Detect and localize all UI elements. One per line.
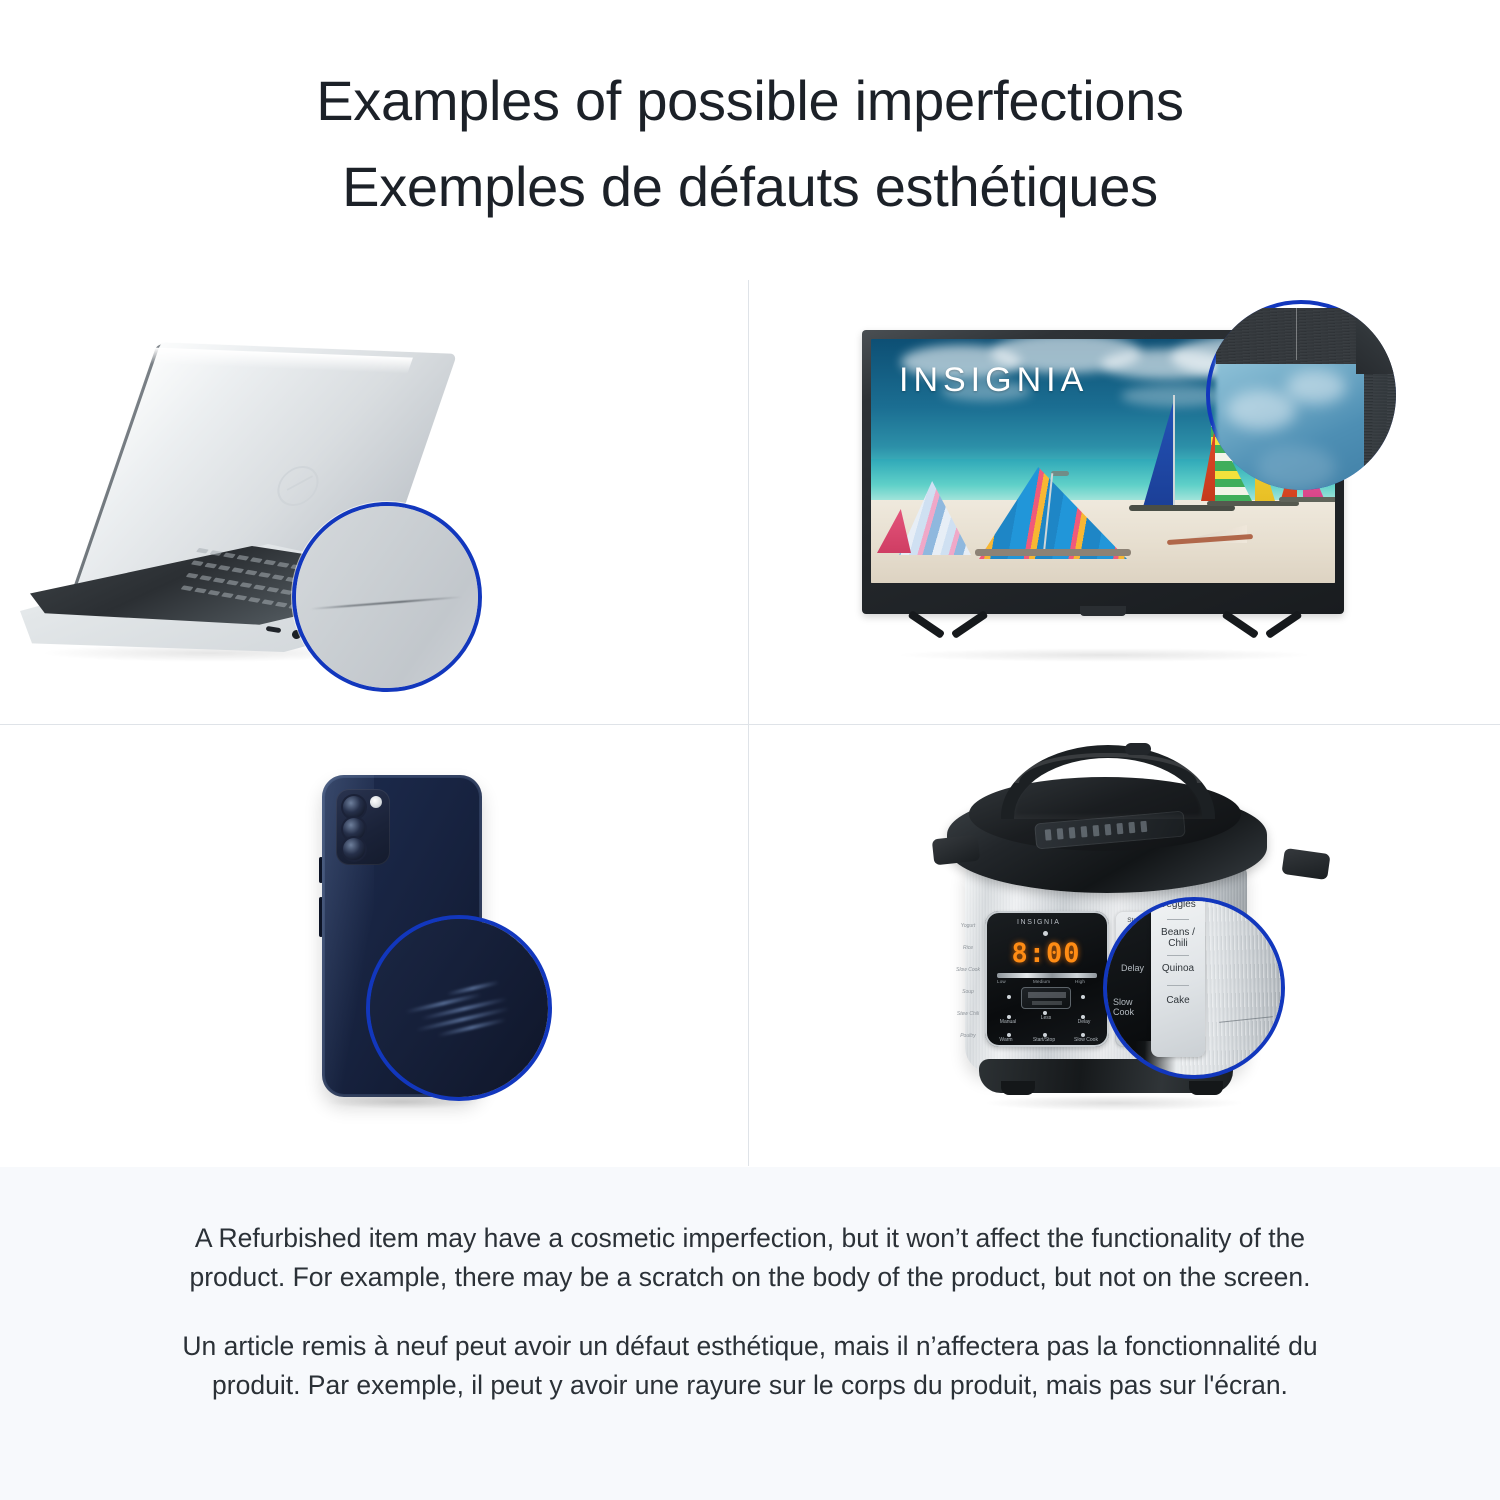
footer-paragraph-english: A Refurbished item may have a cosmetic i… xyxy=(170,1219,1330,1297)
label-less: Less xyxy=(1033,1015,1059,1021)
television-logo-nub xyxy=(1080,606,1126,616)
magnified-label-delay: Delay xyxy=(1121,963,1144,973)
pressure-cook-button[interactable] xyxy=(1021,987,1071,1009)
television-stand-left xyxy=(912,610,984,650)
page-header: Examples of possible imperfections Exemp… xyxy=(0,0,1500,262)
footer-paragraph-french: Un article remis à neuf peut avoir un dé… xyxy=(170,1327,1330,1405)
magnified-button-veggies: Veggies xyxy=(1153,899,1203,910)
bar-label-low: Low xyxy=(997,979,1006,984)
television-stand-right xyxy=(1226,610,1298,650)
base-foot xyxy=(1189,1081,1223,1095)
imperfections-infographic: Examples of possible imperfections Exemp… xyxy=(0,0,1500,1500)
magnified-panel-black: Delay Slow Cook xyxy=(1107,897,1153,1041)
pressure-cooker-shadow xyxy=(983,1095,1245,1111)
cooker-display: 8:00 xyxy=(1011,939,1081,969)
magnified-button-cake: Cake xyxy=(1153,995,1203,1006)
label-delay: Delay xyxy=(1071,1019,1097,1025)
pressure-level-bar xyxy=(997,973,1097,978)
magnified-bezel-corner-round xyxy=(1356,308,1396,374)
label-manual: Manual xyxy=(995,1019,1021,1025)
base-foot xyxy=(1001,1081,1035,1095)
label-warm: Warm xyxy=(993,1037,1019,1043)
television-shadow xyxy=(894,648,1314,662)
example-cell-smartphone xyxy=(0,725,748,1166)
example-cell-pressure-cooker: Yogurt Rice Slow Cook Soup Stew Chili Po… xyxy=(749,725,1500,1166)
magnified-screen-area xyxy=(1216,360,1368,490)
label-start-stop: Start/Stop xyxy=(1031,1037,1057,1043)
page-title-french: Exemples de défauts esthétiques xyxy=(342,144,1158,230)
magnifier-television-clip xyxy=(1206,300,1396,490)
status-indicator-light xyxy=(1043,931,1048,936)
camera-lens-icon xyxy=(343,838,365,860)
example-cell-television: INSIGNIA xyxy=(749,280,1500,724)
cooker-control-panel[interactable]: INSIGNIA 8:00 Low Medium High xyxy=(985,911,1109,1047)
handle-highlight xyxy=(1015,753,1201,783)
screen-brand-text: INSIGNIA xyxy=(899,361,1088,400)
television-illustration: INSIGNIA xyxy=(854,318,1374,690)
magnified-bezel-corner xyxy=(1216,308,1396,490)
magnified-button-quinoa: Quinoa xyxy=(1153,963,1203,974)
plus-button[interactable] xyxy=(1081,995,1085,999)
magnifier-laptop-scratch xyxy=(292,502,482,692)
minus-button[interactable] xyxy=(1007,995,1011,999)
label-slow-cook: Slow Cook xyxy=(1073,1037,1099,1043)
example-cell-laptop xyxy=(0,280,748,724)
cooker-brand-text: INSIGNIA xyxy=(1017,919,1061,926)
lid-ear-right xyxy=(1281,848,1330,880)
bar-label-medium: Medium xyxy=(1033,979,1050,984)
magnified-bezel-seam xyxy=(1296,308,1297,360)
lid-ear-left xyxy=(932,835,980,866)
camera-flash-icon xyxy=(370,796,382,808)
page-footer: A Refurbished item may have a cosmetic i… xyxy=(0,1167,1500,1500)
pressure-valve-icon[interactable] xyxy=(1125,743,1151,755)
magnified-button-column: Veggies Beans / Chili Quinoa Cake xyxy=(1151,897,1205,1057)
smartphone-illustration xyxy=(260,765,560,1125)
camera-lens-icon xyxy=(343,796,365,818)
examples-grid: INSIGNIA xyxy=(0,280,1500,1166)
pressure-cooker-illustration: Yogurt Rice Slow Cook Soup Stew Chili Po… xyxy=(939,743,1319,1143)
magnifier-television-corner xyxy=(1206,300,1396,490)
camera-lens-icon xyxy=(343,818,365,840)
cooker-left-labels: Yogurt Rice Slow Cook Soup Stew Chili Po… xyxy=(955,915,981,1043)
magnifier-smartphone-scratches xyxy=(366,915,552,1101)
camera-module xyxy=(336,789,390,865)
laptop-illustration xyxy=(20,348,540,678)
magnifier-cooker-scratch: Delay Slow Cook Veggies Beans / Chili Qu… xyxy=(1103,897,1285,1079)
bar-label-high: High xyxy=(1075,979,1085,984)
magnified-label-slow-cook: Slow Cook xyxy=(1113,997,1153,1017)
magnified-button-beans-chili: Beans / Chili xyxy=(1153,927,1203,949)
page-title-english: Examples of possible imperfections xyxy=(316,58,1184,144)
